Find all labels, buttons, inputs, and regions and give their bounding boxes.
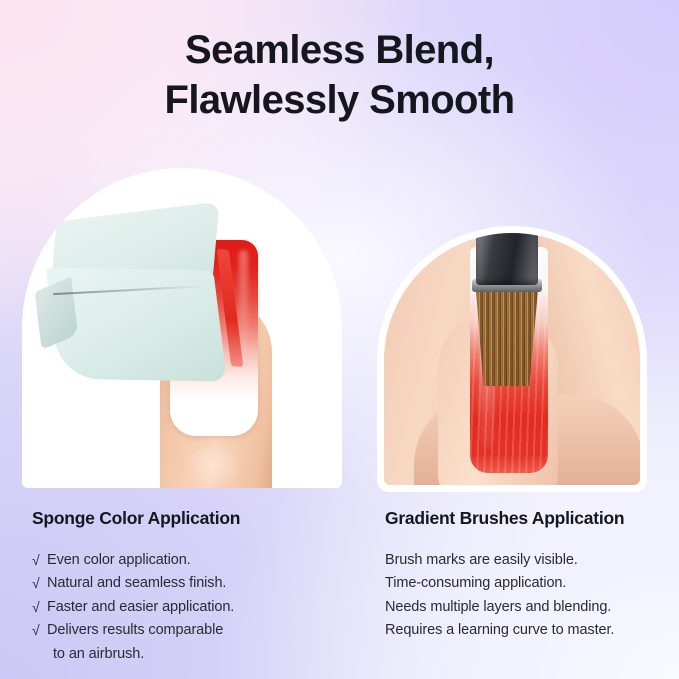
list-item-label: Natural and seamless finish.	[47, 572, 362, 595]
list-item: √ Natural and seamless finish.	[32, 572, 362, 595]
check-icon: √	[32, 596, 47, 619]
brush-application-column: Gradient Brushes Application Brush marks…	[385, 508, 675, 643]
list-item: Brush marks are easily visible.	[385, 549, 675, 572]
sponge-application-column: Sponge Color Application √ Even color ap…	[32, 508, 362, 666]
list-item: Requires a learning curve to master.	[385, 619, 675, 642]
list-item: √ Even color application.	[32, 549, 362, 572]
list-item-label: Delivers results comparable	[47, 619, 362, 642]
page-title-line-1: Seamless Blend,	[0, 26, 679, 76]
list-item: Needs multiple layers and blending.	[385, 596, 675, 619]
brush-drawbacks-list: Brush marks are easily visible. Time-con…	[385, 549, 675, 643]
list-item: √ Faster and easier application.	[32, 596, 362, 619]
brush-application-artwork	[384, 233, 640, 485]
check-icon: √	[32, 572, 47, 595]
list-item-label-continued: to an airbrush.	[47, 643, 362, 666]
brush-application-title: Gradient Brushes Application	[385, 508, 675, 529]
brush-application-photo-clip	[384, 233, 640, 485]
sponge-application-title: Sponge Color Application	[32, 508, 362, 529]
list-item: Time-consuming application.	[385, 572, 675, 595]
sponge-benefits-list: √ Even color application. √ Natural and …	[32, 549, 362, 666]
sponge-tool-shape	[40, 202, 237, 392]
page-title-line-2: Flawlessly Smooth	[0, 76, 679, 126]
page-title: Seamless Blend, Flawlessly Smooth	[0, 26, 679, 125]
image-panels	[0, 160, 679, 500]
brush-bristles-shape	[476, 290, 538, 386]
brush-handle-shape	[476, 233, 538, 285]
sponge-application-image	[22, 168, 342, 488]
list-item-label: Faster and easier application.	[47, 596, 362, 619]
list-item: √ Delivers results comparable	[32, 619, 362, 642]
sponge-application-artwork	[22, 168, 342, 488]
check-icon: √	[32, 549, 47, 572]
brush-application-image	[381, 230, 643, 488]
list-item-continuation: to an airbrush.	[32, 643, 362, 666]
list-item-label: Even color application.	[47, 549, 362, 572]
check-icon: √	[32, 619, 47, 642]
